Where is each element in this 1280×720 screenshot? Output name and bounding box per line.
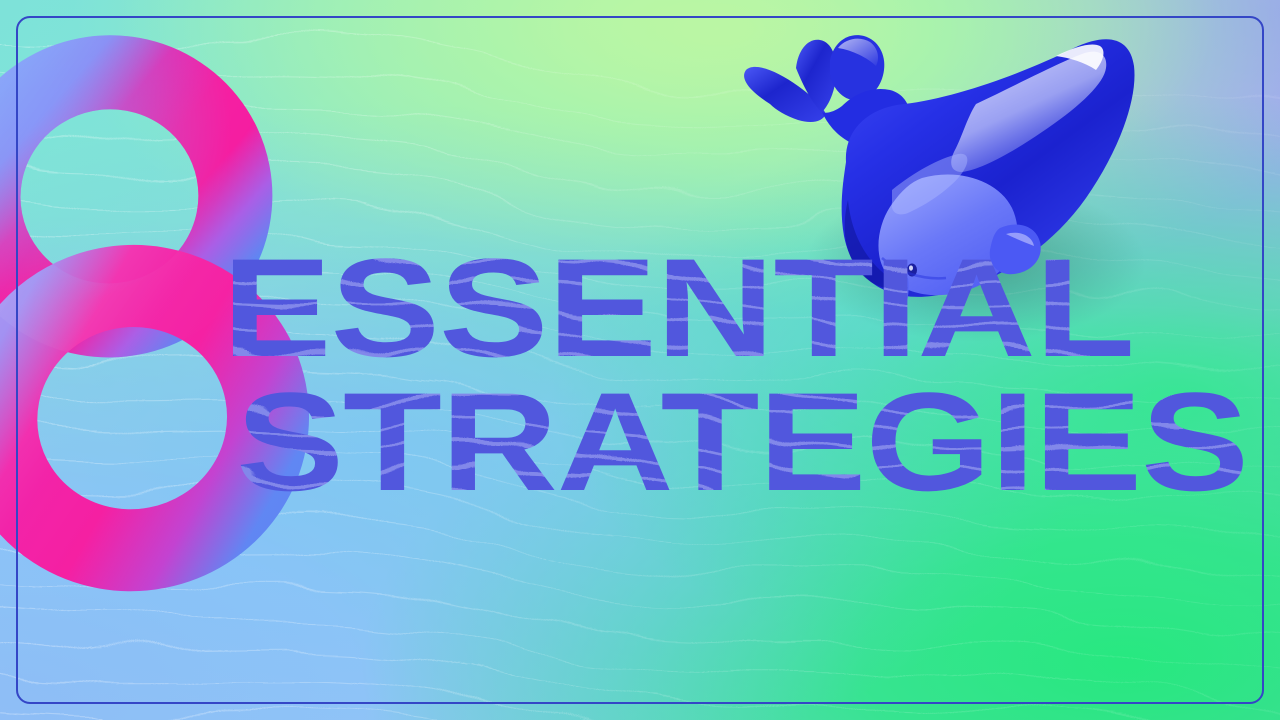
headline-block: ESSENTIAL STRATEGIES — [222, 232, 1262, 502]
poster-canvas: ESSENTIAL STRATEGIES — [0, 0, 1280, 720]
headline-line-2: STRATEGIES — [236, 363, 1248, 520]
